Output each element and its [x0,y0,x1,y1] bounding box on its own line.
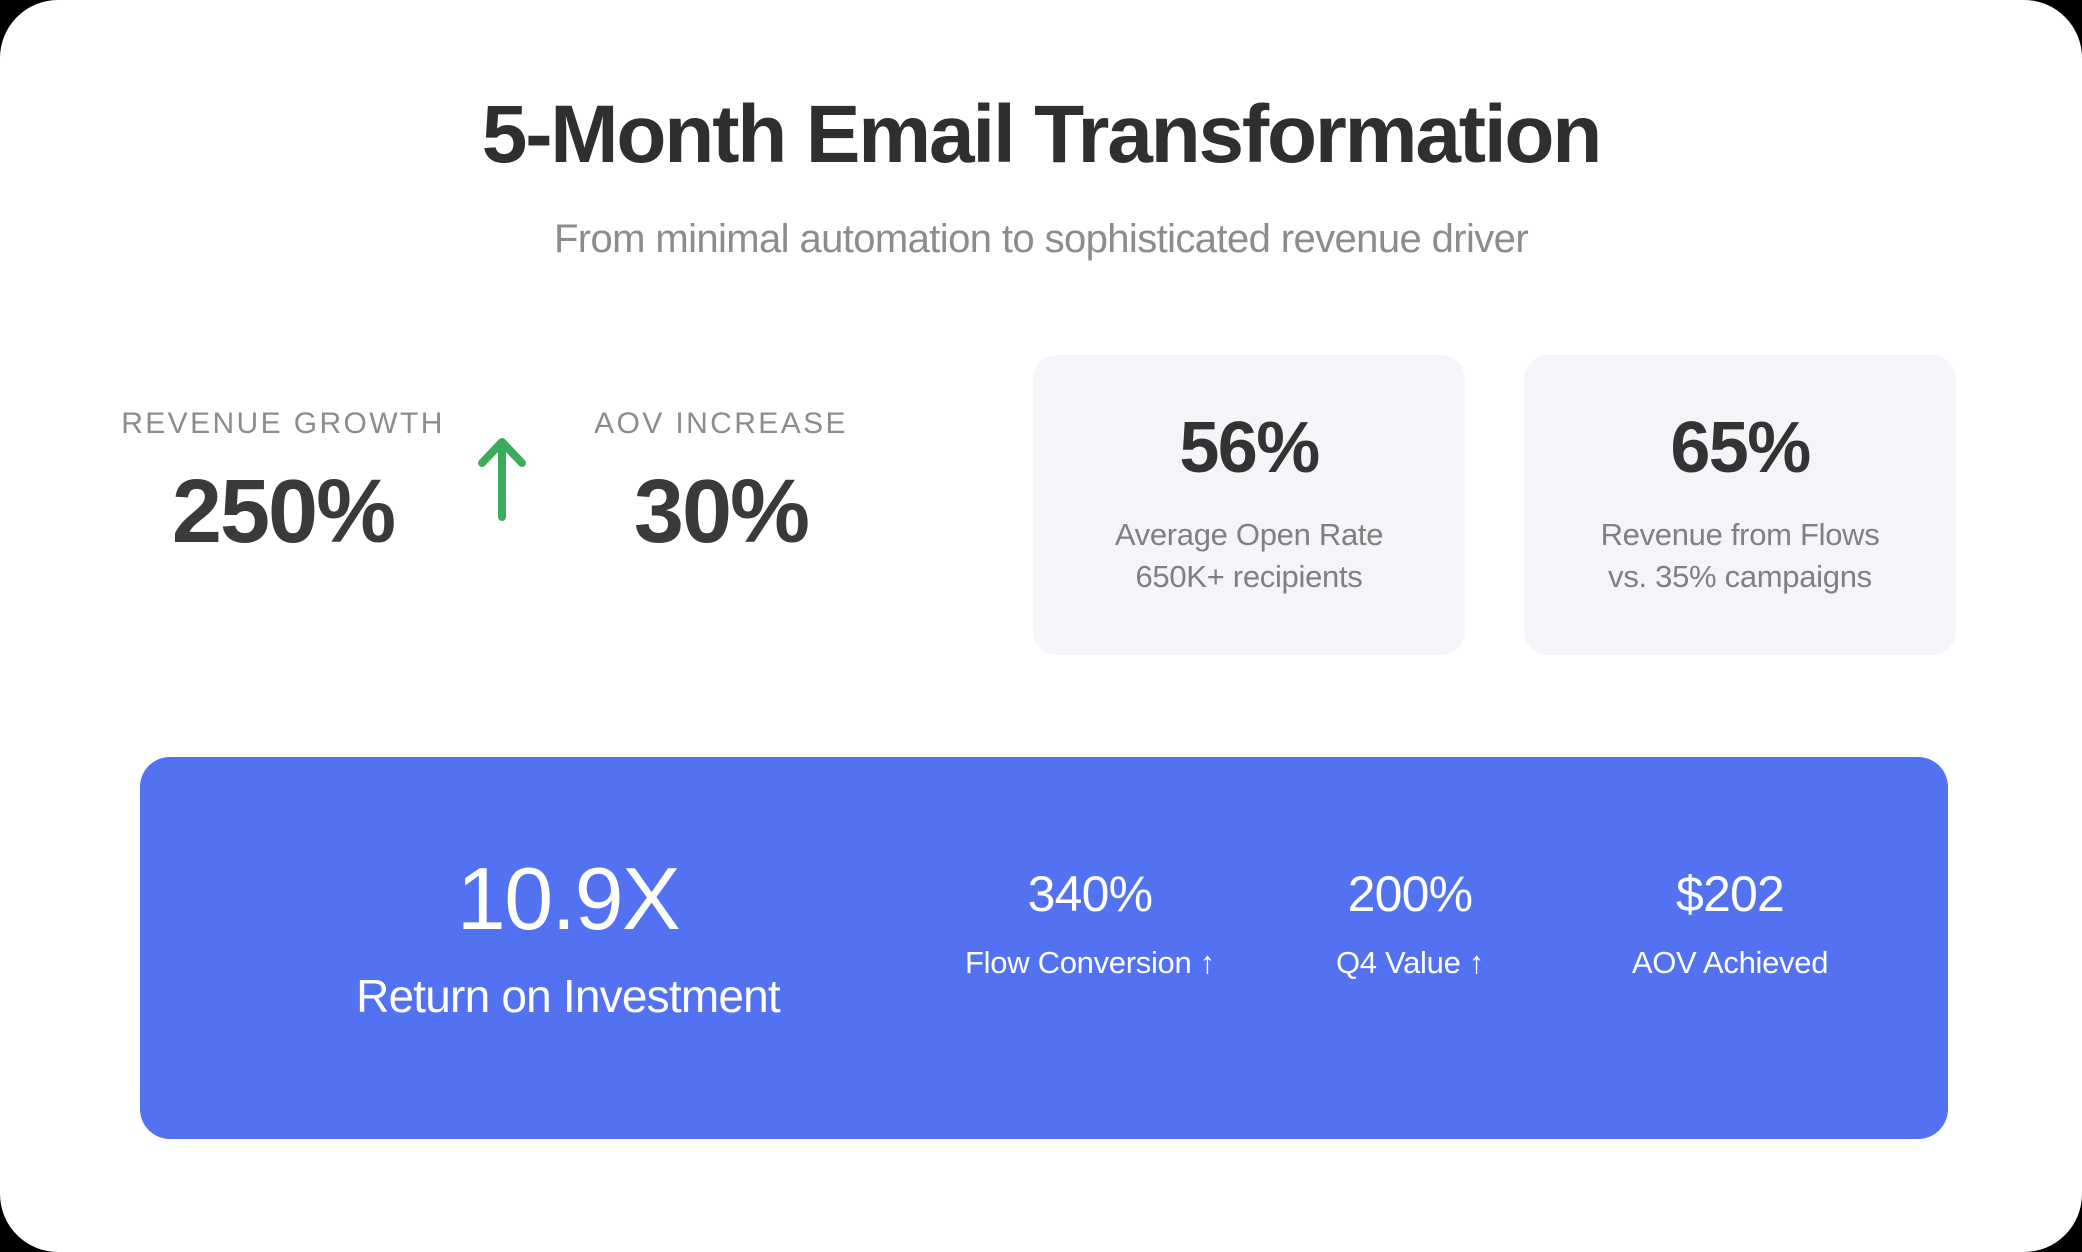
roi-sub-stat-q4-value-label: Q4 Value ↑ [1260,945,1560,981]
header: 5-Month Email Transformation From minima… [0,92,2082,262]
roi-sub-stat-flow-conversion-value: 340% [940,869,1240,919]
stats-row: REVENUE GROWTH 250% AOV INCREASE 30% 56%… [0,355,2082,660]
roi-sub-stat-q4-value-value: 200% [1260,869,1560,919]
metric-card-flow-revenue-line2: vs. 35% campaigns [1601,556,1880,598]
metric-card-flow-revenue: 65% Revenue from Flows vs. 35% campaigns [1524,355,1956,655]
roi-primary-label: Return on Investment [288,969,848,1023]
stat-aov-increase-label: AOV INCREASE [556,407,886,441]
page-subtitle: From minimal automation to sophisticated… [0,217,2082,262]
metric-card-open-rate-line2: 650K+ recipients [1115,556,1383,598]
roi-sub-stat-flow-conversion: 340% Flow Conversion ↑ [940,869,1240,981]
metric-card-open-rate-value: 56% [1179,412,1318,484]
metric-card-flow-revenue-value: 65% [1670,412,1809,484]
roi-primary-value: 10.9X [288,855,848,943]
trend-arrow-container [448,407,556,521]
metric-card-flow-revenue-line1: Revenue from Flows [1601,514,1880,556]
roi-primary-stat: 10.9X Return on Investment [288,855,848,1023]
metric-card-flow-revenue-description: Revenue from Flows vs. 35% campaigns [1601,514,1880,598]
roi-sub-stat-aov-achieved-value: $202 [1580,869,1880,919]
stat-revenue-growth-value: 250% [118,467,448,557]
roi-sub-stat-aov-achieved-label: AOV Achieved [1580,945,1880,981]
roi-sub-stat-aov-achieved: $202 AOV Achieved [1580,869,1880,981]
roi-sub-stat-q4-value: 200% Q4 Value ↑ [1260,869,1560,981]
metric-card-open-rate-line1: Average Open Rate [1115,514,1383,556]
stat-aov-increase: AOV INCREASE 30% [556,407,886,557]
stat-revenue-growth-label: REVENUE GROWTH [118,407,448,441]
infographic-card: 5-Month Email Transformation From minima… [0,0,2082,1252]
roi-sub-stat-flow-conversion-label: Flow Conversion ↑ [940,945,1240,981]
roi-sub-stats-group: 340% Flow Conversion ↑ 200% Q4 Value ↑ $… [930,869,1890,981]
roi-banner: 10.9X Return on Investment 340% Flow Con… [140,757,1948,1139]
stat-revenue-growth: REVENUE GROWTH 250% [118,407,448,557]
metric-card-open-rate: 56% Average Open Rate 650K+ recipients [1033,355,1465,655]
arrow-up-icon [474,435,530,521]
metric-card-open-rate-description: Average Open Rate 650K+ recipients [1115,514,1383,598]
plain-stats-group: REVENUE GROWTH 250% AOV INCREASE 30% [118,407,908,557]
page-title: 5-Month Email Transformation [0,92,2082,179]
stat-aov-increase-value: 30% [556,467,886,557]
